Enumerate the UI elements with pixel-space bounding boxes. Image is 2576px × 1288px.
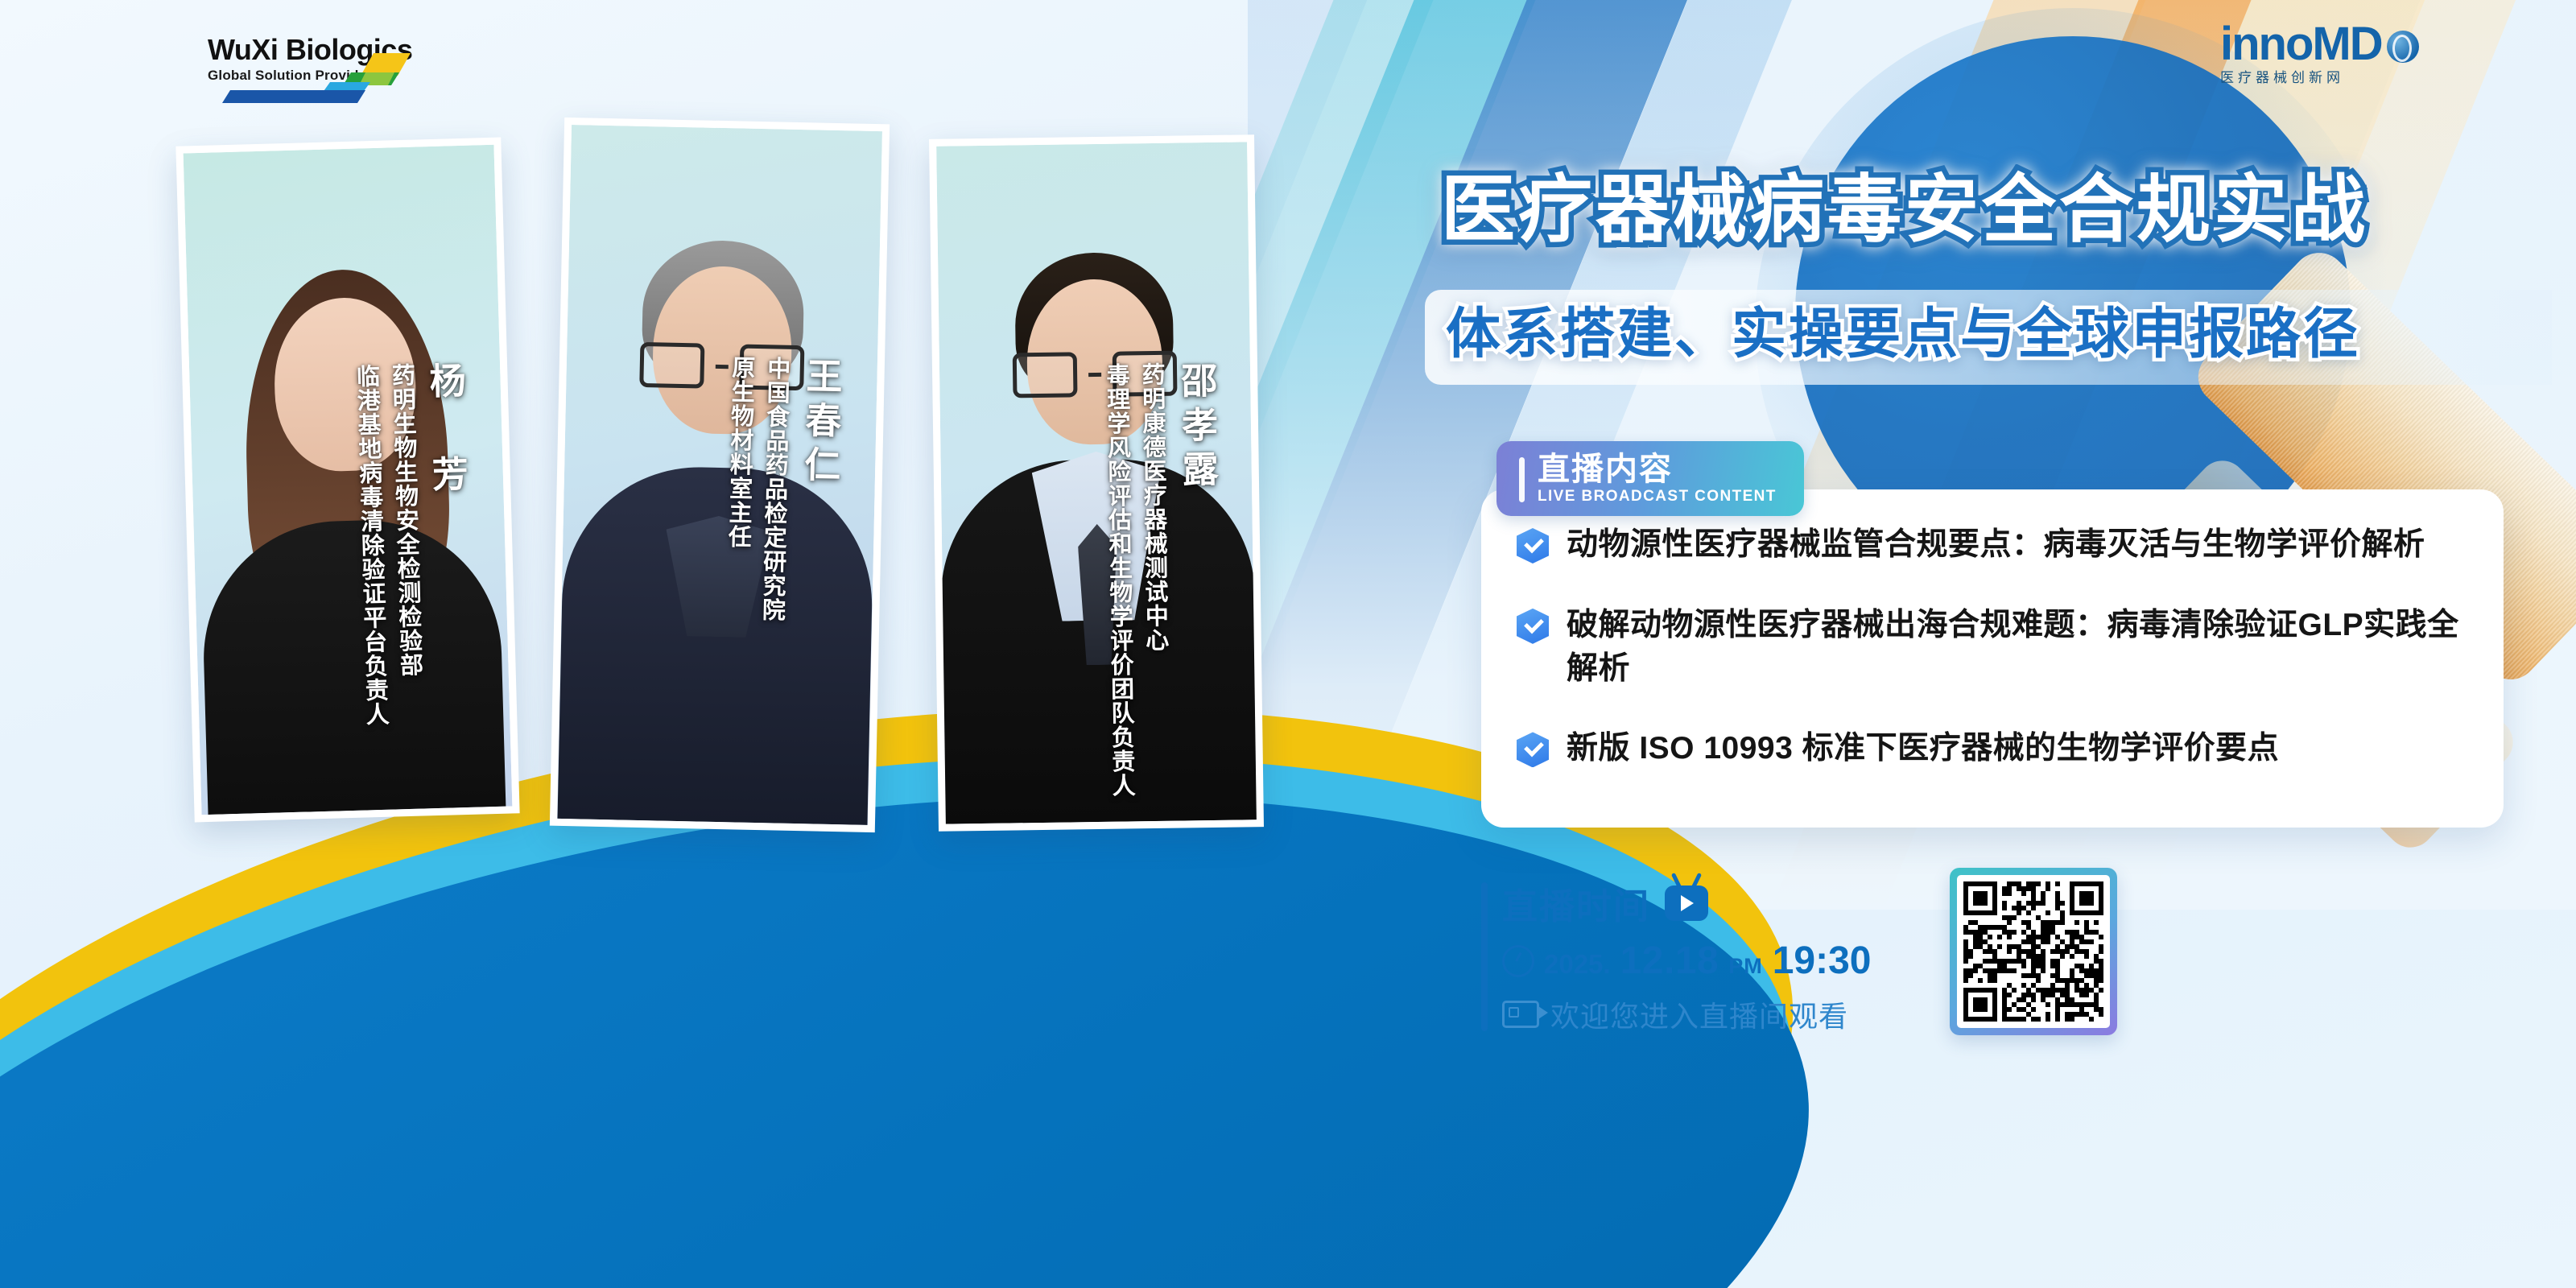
speaker-cards: 杨 芳 药明生物生物安全检测检验部 临港基地病毒清除验证平台负责人 王春仁 中国…: [185, 121, 1336, 918]
title-block: 医疗器械病毒安全合规实战: [1441, 171, 2576, 250]
content-item-text: 新版 ISO 10993 标准下医疗器械的生物学评价要点: [1567, 727, 2279, 770]
live-note: 欢迎您进入直播间观看: [1550, 993, 1848, 1035]
live-time: 19:30: [1773, 939, 1872, 983]
badge-title-cn: 直播内容: [1538, 452, 1777, 486]
check-badge-icon: [1517, 528, 1549, 563]
wuxi-logo-tagline: Global Solution Provider: [208, 68, 425, 82]
camera-icon: [1502, 1001, 1539, 1028]
page-title: 医疗器械病毒安全合规实战: [1441, 171, 2576, 250]
speaker-role-2: 原生物材料室主任: [724, 355, 753, 549]
live-year: 2025.: [1544, 949, 1611, 980]
speaker-photo-2: 王春仁 中国食品药品检定研究院 原生物材料室主任: [557, 125, 882, 825]
speaker-name-1: 杨 芳: [423, 361, 466, 500]
speaker-org-2: 中国食品药品检定研究院: [758, 356, 789, 622]
content-item-text: 破解动物源性医疗器械出海合规难题：病毒清除验证GLP实践全解析: [1567, 604, 2467, 691]
speaker-org-3: 药明康德医疗器械测试中心: [1138, 362, 1167, 652]
speaker-card-2: 王春仁 中国食品药品检定研究院 原生物材料室主任: [550, 118, 890, 832]
banner-poster: WuXi Biologics Global Solution Provider …: [0, 0, 2576, 1288]
check-badge-icon: [1517, 609, 1549, 644]
innomd-logo-text: innoMD: [2220, 21, 2486, 68]
qr-code[interactable]: [1950, 868, 2117, 1035]
tv-icon: [1665, 885, 1708, 921]
live-meridiem: PM: [1728, 954, 1763, 979]
check-badge-icon: [1517, 732, 1549, 767]
badge-title-en: LIVE BROADCAST CONTENT: [1538, 488, 1777, 506]
speaker-photo-1: 杨 芳 药明生物生物安全检测检验部 临港基地病毒清除验证平台负责人: [184, 145, 513, 815]
live-content-card: 动物源性医疗器械监管合规要点：病毒灭活与生物学评价解析 破解动物源性医疗器械出海…: [1481, 489, 2504, 828]
content-list-item[interactable]: 动物源性医疗器械监管合规要点：病毒灭活与生物学评价解析: [1517, 523, 2467, 567]
qr-code-grid: [1963, 881, 2103, 1022]
globe-icon: [2387, 31, 2419, 63]
content-item-text: 动物源性医疗器械监管合规要点：病毒灭活与生物学评价解析: [1567, 523, 2425, 567]
badge-bar-icon: [1519, 457, 1525, 502]
speaker-photo-3: 邵孝露 药明康德医疗器械测试中心 毒理学风险评估和生物学评价团队负责人: [936, 142, 1257, 824]
live-date: 12.18: [1620, 939, 1719, 983]
content-list-item[interactable]: 破解动物源性医疗器械出海合规难题：病毒清除验证GLP实践全解析: [1517, 604, 2467, 691]
speaker-card-3: 邵孝露 药明康德医疗器械测试中心 毒理学风险评估和生物学评价团队负责人: [929, 134, 1264, 832]
wuxi-biologics-logo: WuXi Biologics Global Solution Provider: [208, 35, 425, 108]
innomd-logo-subtitle: 医疗器械创新网: [2220, 71, 2486, 85]
speaker-name-3: 邵孝露: [1175, 361, 1216, 495]
live-time-label: 直播时间: [1502, 877, 1650, 929]
innomd-logo: innoMD 医疗器械创新网: [2220, 21, 2486, 109]
page-subtitle: 体系搭建、实操要点与全球申报路径: [1446, 302, 2573, 368]
innomd-wordmark: innoMD: [2220, 18, 2382, 70]
speaker-card-1: 杨 芳 药明生物生物安全检测检验部 临港基地病毒清除验证平台负责人: [175, 138, 519, 823]
qr-code-inner: [1957, 875, 2110, 1028]
clock-icon: [1502, 945, 1534, 977]
speaker-name-2: 王春仁: [799, 357, 840, 490]
wuxi-logo-name: WuXi Biologics: [208, 35, 425, 64]
speaker-role-3: 毒理学风险评估和生物学评价团队负责人: [1103, 362, 1134, 797]
live-content-badge: 直播内容 LIVE BROADCAST CONTENT: [1496, 441, 1804, 516]
content-list-item[interactable]: 新版 ISO 10993 标准下医疗器械的生物学评价要点: [1517, 727, 2467, 770]
